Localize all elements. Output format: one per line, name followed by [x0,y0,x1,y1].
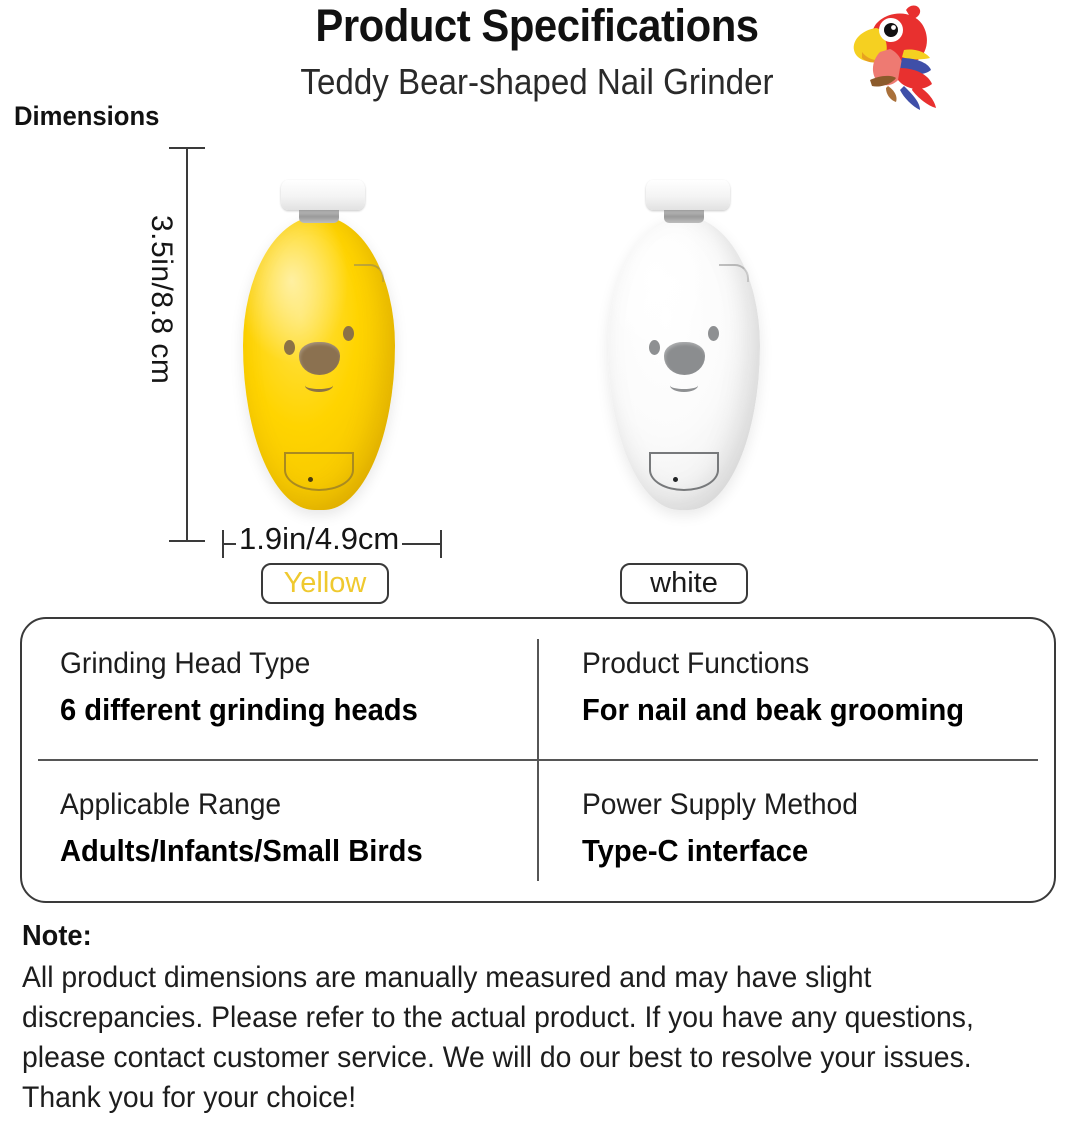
spec-cell-product-functions: Product Functions For nail and beak groo… [538,619,1054,760]
bear-eye-left [649,340,660,355]
device-body [243,216,395,510]
note-section: Note: All product dimensions are manuall… [22,918,1052,1118]
color-option-white[interactable]: white [620,563,748,604]
spec-cell-power-supply-method: Power Supply Method Type-C interface [538,760,1054,901]
product-image-yellow [243,180,395,510]
bear-eye-right [708,326,719,341]
color-option-yellow[interactable]: Yellow [261,563,389,604]
power-button-dot [673,477,678,482]
spec-cell-grinding-head-type: Grinding Head Type 6 different grinding … [22,619,538,760]
spec-value: For nail and beak grooming [582,690,1009,730]
spec-value: Type-C interface [582,831,1009,871]
spec-label: Product Functions [582,645,1009,683]
color-option-label: Yellow [284,567,367,600]
power-button-icon [649,452,719,491]
spec-label: Grinding Head Type [60,645,492,683]
power-button-dot [308,477,313,482]
grinding-head-cap-icon [281,180,365,210]
note-body: All product dimensions are manually meas… [22,958,1052,1118]
specification-table: Grinding Head Type 6 different grinding … [20,617,1056,903]
spec-label: Applicable Range [60,786,492,824]
bear-eye-right [343,326,354,341]
parrot-icon [836,2,954,114]
device-seam [719,264,749,282]
spec-value: Adults/Infants/Small Birds [60,831,492,871]
device-seam [354,264,384,282]
power-button-icon [284,452,354,491]
spec-label: Power Supply Method [582,786,1009,824]
device-body [608,216,760,510]
width-dimension-label: 1.9in/4.9cm [236,521,402,557]
dimensions-section-label: Dimensions [14,101,159,132]
height-dimension-label: 3.5in/8.8 cm [144,215,178,384]
spec-cell-applicable-range: Applicable Range Adults/Infants/Small Bi… [22,760,538,901]
color-option-label: white [650,567,718,600]
height-dimension-bracket [186,147,188,542]
product-specification-page: Product Specifications Teddy Bear-shaped… [0,0,1074,1126]
spec-value: 6 different grinding heads [60,690,492,730]
bear-nose [299,342,340,375]
product-image-white [608,180,760,510]
bear-mouth [305,379,333,392]
grinding-head-cap-icon [646,180,730,210]
bear-nose [664,342,705,375]
note-title: Note: [22,918,990,954]
bear-eye-left [284,340,295,355]
product-stage: 3.5in/8.8 cm 1.9in/4.9cm [0,135,1074,605]
bear-mouth [670,379,698,392]
